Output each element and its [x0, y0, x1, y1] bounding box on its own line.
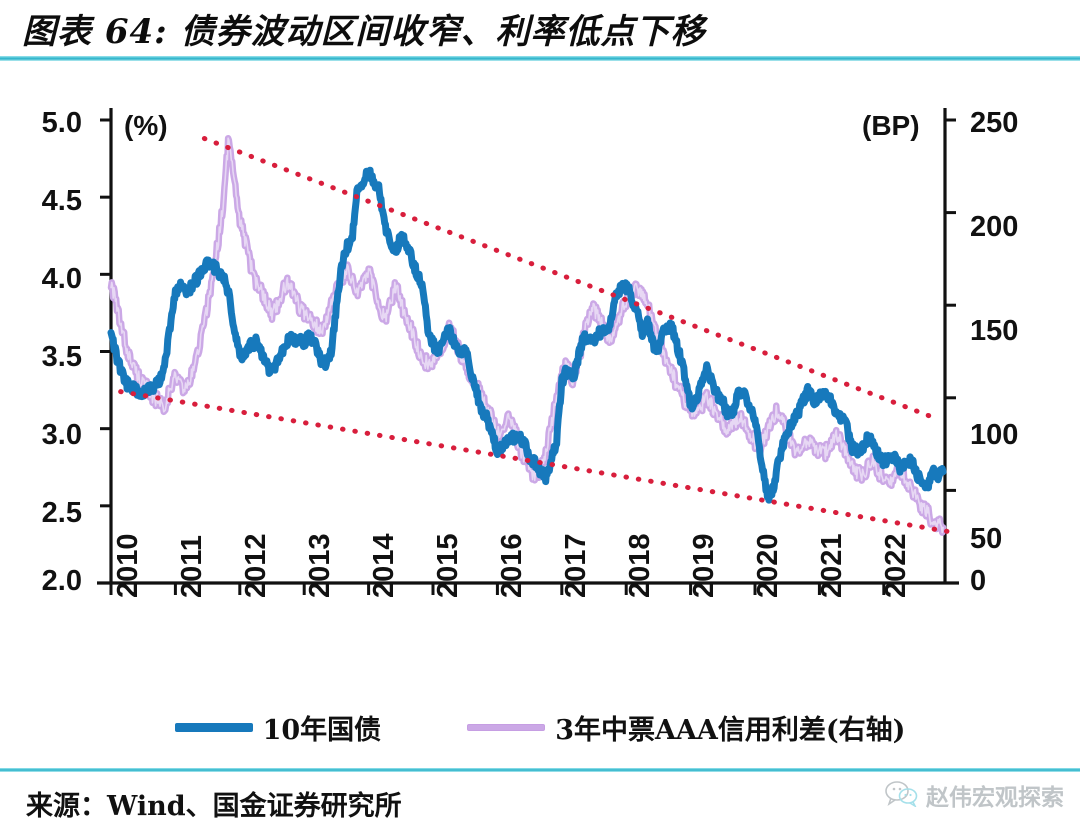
wechat-bubble-icon — [885, 779, 919, 812]
watermark: 赵伟宏观探索 — [885, 778, 1064, 812]
legend-swatch-purple — [467, 724, 545, 731]
legend-item-aaa-credit-spread[interactable]: 3年中票AAA信用利差(右轴) — [467, 708, 905, 747]
source-note: 来源：Wind、国金证券研究所 — [26, 784, 402, 823]
figure-page: 图表 64: 债券波动区间收窄、利率低点下移 (%) (BP) 5.0 4.5 … — [0, 0, 1080, 832]
chart-legend: 10年国债 3年中票AAA信用利差(右轴) — [0, 700, 1080, 754]
chart-container: (%) (BP) 5.0 4.5 4.0 3.5 3.0 2.5 2.0 250… — [0, 62, 1080, 762]
legend-item-10y-treasury[interactable]: 10年国债 — [175, 708, 382, 747]
legend-label-10y-treasury: 10年国债 — [263, 708, 382, 747]
header-divider — [0, 56, 1080, 61]
legend-label-aaa-credit-spread: 3年中票AAA信用利差(右轴) — [555, 708, 905, 747]
legend-swatch-blue — [175, 723, 253, 732]
plot-canvas — [0, 62, 1080, 622]
figure-footer: 来源：Wind、国金证券研究所 赵伟宏观探索 — [0, 772, 1080, 832]
figure-header: 图表 64: 债券波动区间收窄、利率低点下移 — [0, 0, 1080, 56]
page-title: 图表 64: 债券波动区间收窄、利率低点下移 — [22, 4, 706, 53]
watermark-text: 赵伟宏观探索 — [926, 778, 1064, 812]
